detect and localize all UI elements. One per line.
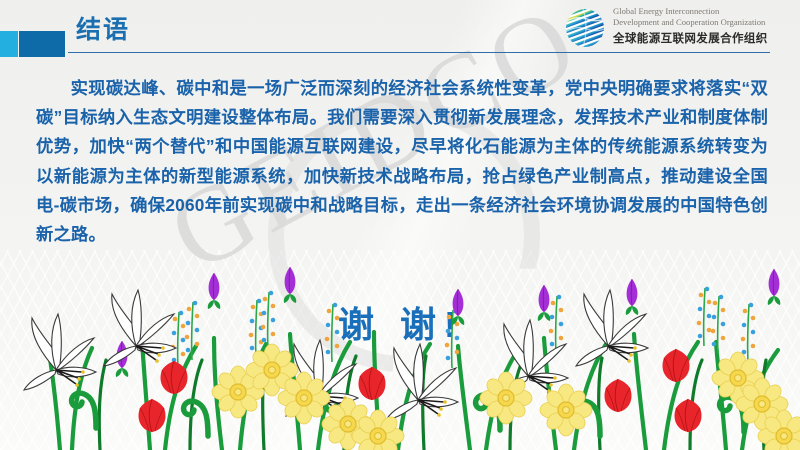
logo-cn-name: 全球能源互联网发展合作组织 [613,30,768,46]
globe-stripes-icon [563,6,607,50]
slide-canvas: GEIDCO 结语 [0,0,800,450]
page-title: 结语 [76,18,130,43]
organization-logo: Global Energy Interconnection Developmen… [563,4,795,52]
logo-en-line1: Global Energy Interconnection [613,6,768,17]
logo-en-line2: Development and Cooperation Organization [613,17,768,28]
header-accent-square-dark [19,31,65,57]
header-accent-square-light [0,31,18,57]
header-divider [68,52,770,53]
body-text: 实现碳达峰、碳中和是一场广泛而深刻的经济社会系统性变革，党中央明确要求将落实“双… [36,74,768,249]
logo-wordmark: Global Energy Interconnection Developmen… [613,6,768,46]
thanks-text: 谢 谢! [338,296,464,348]
body-paragraph: 实现碳达峰、碳中和是一场广泛而深刻的经济社会系统性变革，党中央明确要求将落实“双… [36,74,768,249]
